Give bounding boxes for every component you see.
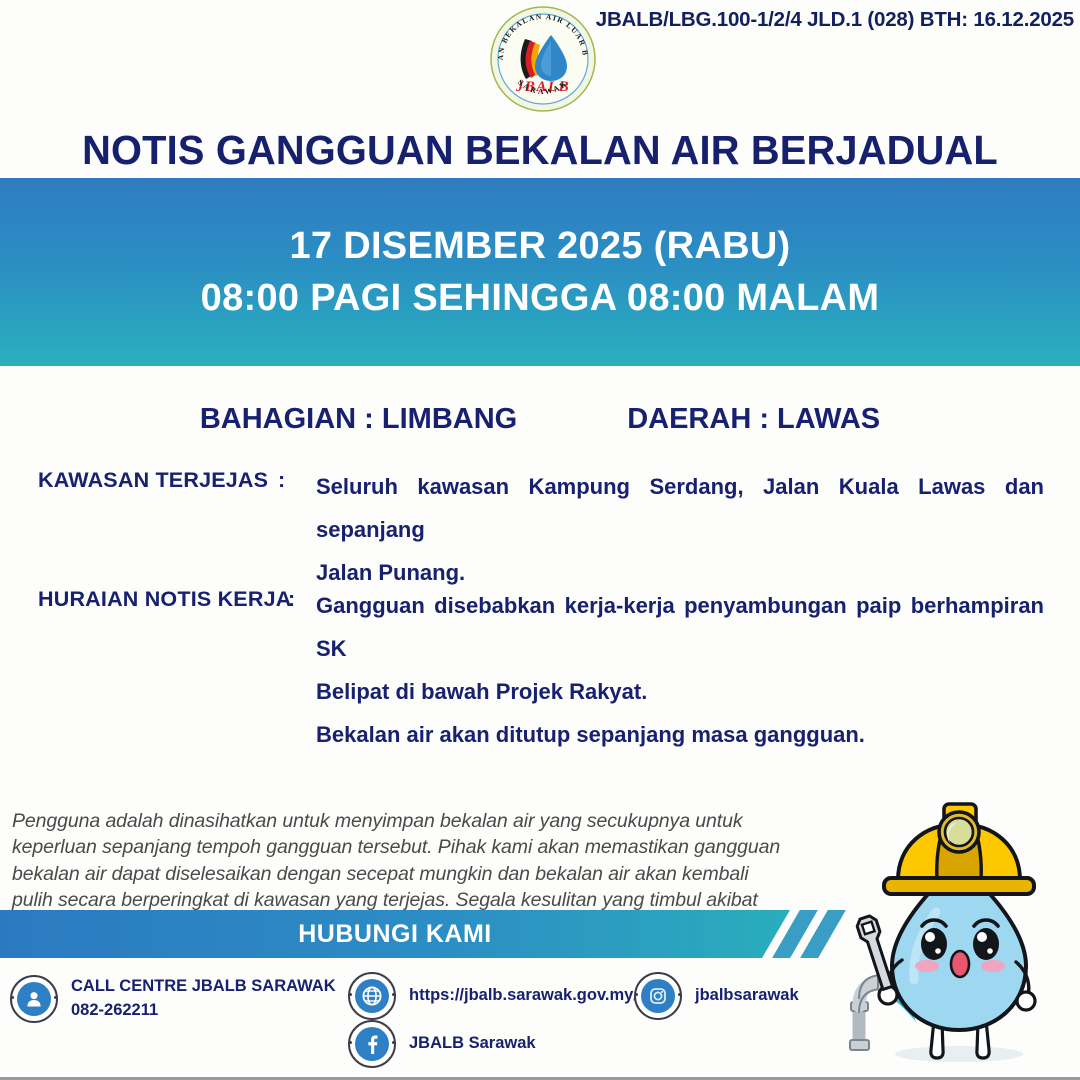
work-description-block: HURAIAN NOTIS KERJA : Gangguan disebabka… (38, 585, 1050, 757)
work-description-line3: Bekalan air akan ditutup sepanjang masa … (316, 714, 1044, 757)
icon-tick-left (349, 993, 352, 996)
location-headings: BAHAGIAN : LIMBANG DAERAH : LAWAS (0, 403, 1080, 436)
globe-icon (348, 972, 396, 1020)
icon-tick-left (635, 993, 638, 996)
facebook-icon (348, 1020, 396, 1068)
notice-poster: JBALB/LBG.100-1/2/4 JLD.1 (028) BTH: 16.… (0, 0, 1080, 1080)
website-url: https://jbalb.sarawak.gov.my/ (409, 984, 638, 1008)
work-description-line1: Gangguan disebabkan kerja-kerja penyambu… (316, 593, 1044, 661)
instagram-icon-inner (641, 979, 675, 1013)
page-title: NOTIS GANGGUAN BEKALAN AIR BERJADUAL (16, 127, 1064, 174)
poster-header: JBALB/LBG.100-1/2/4 JLD.1 (028) BTH: 16.… (0, 0, 1080, 178)
contact-banner: HUBUNGI KAMI (0, 910, 800, 958)
call-centre-number: 082-262211 (71, 999, 336, 1023)
icon-tick-left (11, 996, 14, 999)
call-centre-name: CALL CENTRE JBALB SARAWAK (71, 975, 336, 999)
affected-area-value: Seluruh kawasan Kampung Serdang, Jalan K… (316, 466, 1044, 595)
person-icon (10, 975, 58, 1023)
icon-tick-right (392, 1041, 395, 1044)
yellow-hard-hat (884, 804, 1034, 894)
jbalb-sarawak-logo-icon: JBALB JABATAN BEKALAN AIR LUAR BANDAR SA… (489, 5, 597, 113)
contact-instagram[interactable]: jbalbsarawak (634, 972, 799, 1020)
contact-facebook[interactable]: JBALB Sarawak (348, 1020, 536, 1068)
instagram-handle: jbalbsarawak (695, 984, 799, 1008)
affected-area-label: KAWASAN TERJEJAS (38, 466, 278, 493)
facebook-icon-inner (355, 1027, 389, 1061)
globe-icon-inner (355, 979, 389, 1013)
bahagian-label: BAHAGIAN : LIMBANG (200, 403, 517, 436)
schedule-banner: 17 DISEMBER 2025 (RABU) 08:00 PAGI SEHIN… (0, 178, 1080, 366)
facebook-handle: JBALB Sarawak (409, 1032, 536, 1056)
icon-tick-right (678, 993, 681, 996)
icon-tick-left (349, 1041, 352, 1044)
work-description-colon: : (288, 585, 316, 612)
icon-tick-right (54, 996, 57, 999)
contact-call-centre-text: CALL CENTRE JBALB SARAWAK 082-262211 (71, 975, 336, 1023)
contact-banner-title: HUBUNGI KAMI (0, 910, 790, 958)
work-description-line2: Belipat di bawah Projek Rakyat. (316, 671, 1044, 714)
reference-number: JBALB/LBG.100-1/2/4 JLD.1 (028) BTH: 16.… (596, 8, 1074, 32)
contact-call-centre[interactable]: CALL CENTRE JBALB SARAWAK 082-262211 (10, 975, 336, 1023)
affected-area-colon: : (278, 466, 316, 493)
work-description-label: HURAIAN NOTIS KERJA (38, 585, 288, 612)
work-description-value: Gangguan disebabkan kerja-kerja penyambu… (316, 585, 1044, 757)
icon-tick-right (392, 993, 395, 996)
contact-website[interactable]: https://jbalb.sarawak.gov.my/ (348, 972, 638, 1020)
water-droplet-mascot-icon (826, 792, 1080, 1080)
affected-area-block: KAWASAN TERJEJAS : Seluruh kawasan Kampu… (38, 466, 1050, 595)
person-icon-inner (17, 982, 51, 1016)
schedule-time: 08:00 PAGI SEHINGGA 08:00 MALAM (201, 272, 880, 324)
daerah-label: DAERAH : LAWAS (627, 403, 880, 436)
schedule-date: 17 DISEMBER 2025 (RABU) (289, 220, 790, 272)
instagram-icon (634, 972, 682, 1020)
affected-area-line1: Seluruh kawasan Kampung Serdang, Jalan K… (316, 474, 1044, 542)
